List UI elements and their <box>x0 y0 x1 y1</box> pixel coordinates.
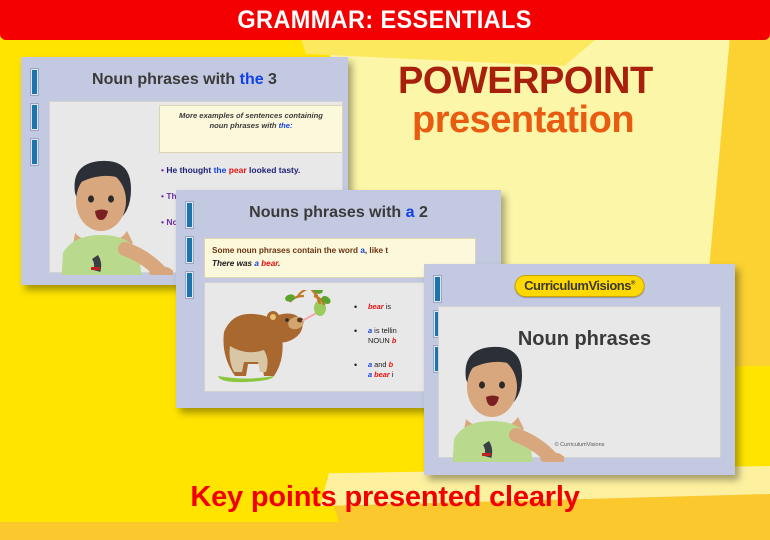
slide-2-bullet-2-line2a: NOUN <box>368 336 392 345</box>
slide-2-bullet-3-mid: and <box>372 360 388 369</box>
promo-text-block: POWERPOINT presentation <box>398 62 738 140</box>
bullet-dot-icon: • <box>354 302 368 312</box>
slide-1-bullet-1-prefix: He thought <box>166 165 213 175</box>
slide-1-bullet-1-suffix: looked tasty. <box>247 165 301 175</box>
slide-2-title-highlight: a <box>406 204 415 221</box>
slide-1-bullet-1-hl2: pear <box>229 165 247 175</box>
slide-2-bullet-1-rest: is <box>384 302 391 311</box>
slide-1-note-text: More examples of sentences containing no… <box>166 111 336 131</box>
slide-2-bullet-3-line2c: i <box>390 370 394 379</box>
bullet-dot-icon: • <box>354 326 368 346</box>
slide-1-title-suffix: 3 <box>264 71 277 88</box>
slide-2-bullet-1-word: bear <box>368 302 384 311</box>
slide-2-bullet-2-line2b: b <box>392 336 397 345</box>
registered-trademark-icon: ® <box>631 281 635 287</box>
slide-2-note-line2-bear: bear <box>261 259 278 268</box>
slide-2-note-line2-suffix: . <box>278 259 280 268</box>
slide-2-note-line1-prefix: Some noun phrases contain the word <box>212 246 360 255</box>
slide-1-note-line2-plain: noun phrases with <box>209 121 278 130</box>
slide-2-note-line1: Some noun phrases contain the word a, li… <box>212 244 468 257</box>
slide-2-title-plain: Nouns phrases with <box>249 204 405 221</box>
logo-text: CurriculumVisions <box>524 278 631 293</box>
girl-illustration <box>55 149 173 275</box>
slide-thumbnail-3[interactable]: CurriculumVisions® Noun phrases © Curric… <box>424 264 735 475</box>
accent-bar-icon <box>31 139 38 165</box>
slide-1-note-box: More examples of sentences containing no… <box>159 105 343 153</box>
page-title: GRAMMAR: ESSENTIALS <box>238 6 532 35</box>
slide-2-bullet-3-line2b: bear <box>374 370 390 379</box>
slide-3-copyright: © CurriculumVisions <box>424 442 735 448</box>
slide-2-title: Nouns phrases with a 2 <box>176 204 501 222</box>
accent-bar-icon <box>434 276 441 302</box>
slide-1-title: Noun phrases with the 3 <box>21 71 348 89</box>
poster-stage: GRAMMAR: ESSENTIALS POWERPOINT presentat… <box>0 0 770 540</box>
accent-bar-icon <box>31 104 38 130</box>
slide-2-note-line2-a: a <box>254 259 259 268</box>
curriculum-visions-logo: CurriculumVisions® <box>514 275 645 297</box>
promo-line-1: POWERPOINT <box>398 62 738 100</box>
promo-line-2: presentation <box>398 100 738 140</box>
slide-1-bullet-1: • He thought the pear looked tasty. <box>161 157 348 183</box>
slide-1-note-line2-highlight: the: <box>279 121 293 130</box>
header-banner: GRAMMAR: ESSENTIALS <box>0 0 770 40</box>
slide-2-bullet-1-text: bear is <box>368 302 391 312</box>
accent-bar-icon <box>186 272 193 298</box>
bullet-dot-icon: • <box>354 360 368 380</box>
slide-1-bullet-1-hl1: the <box>214 165 227 175</box>
slide-1-note-line1: More examples of sentences containing <box>179 111 323 120</box>
slide-1-title-plain: Noun phrases with <box>92 71 240 88</box>
slide-2-bullet-3-text: a and ba bear i <box>368 360 394 380</box>
accent-bar-icon <box>186 237 193 263</box>
slide-2-note-line1-suffix: , like t <box>365 246 388 255</box>
slide-2-note-line2-prefix: There was <box>212 259 254 268</box>
bear-illustration <box>210 290 340 386</box>
slide-2-bullet-2-text: a is tellinNOUN b <box>368 326 397 346</box>
slide-2-bullet-3-word2: b <box>389 360 394 369</box>
slide-2-title-suffix: 2 <box>415 204 428 221</box>
slide-1-title-highlight: the <box>240 71 264 88</box>
slide-2-bullet-2-rest: is tellin <box>372 326 397 335</box>
footer-tagline: Key points presented clearly <box>0 481 770 514</box>
